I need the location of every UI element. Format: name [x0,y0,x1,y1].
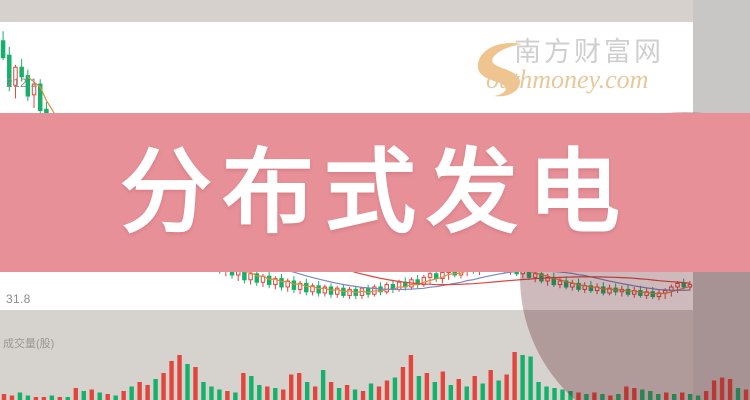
page-top-strip [0,0,693,24]
volume-panel: 成交量(股) [0,338,750,400]
volume-panel-label: 成交量(股) [3,338,54,351]
y-axis-tick-0: 212.1 [6,76,38,90]
y-axis-tick-2: 31.8 [6,292,31,306]
volume-chart-svg [0,348,750,400]
watermark-english: outhmoney.com [486,67,693,93]
banner-title: 分布式发电 [0,113,750,272]
watermark-chinese: 南方财富网 [514,39,693,67]
watermark-card: 南方财富网 outhmoney.com [452,22,693,110]
watermark-text-block: 南方财富网 outhmoney.com [452,22,693,110]
screenshot-stage: 212.1 121.9 31.8 20210702 20210930 20211… [0,0,750,400]
